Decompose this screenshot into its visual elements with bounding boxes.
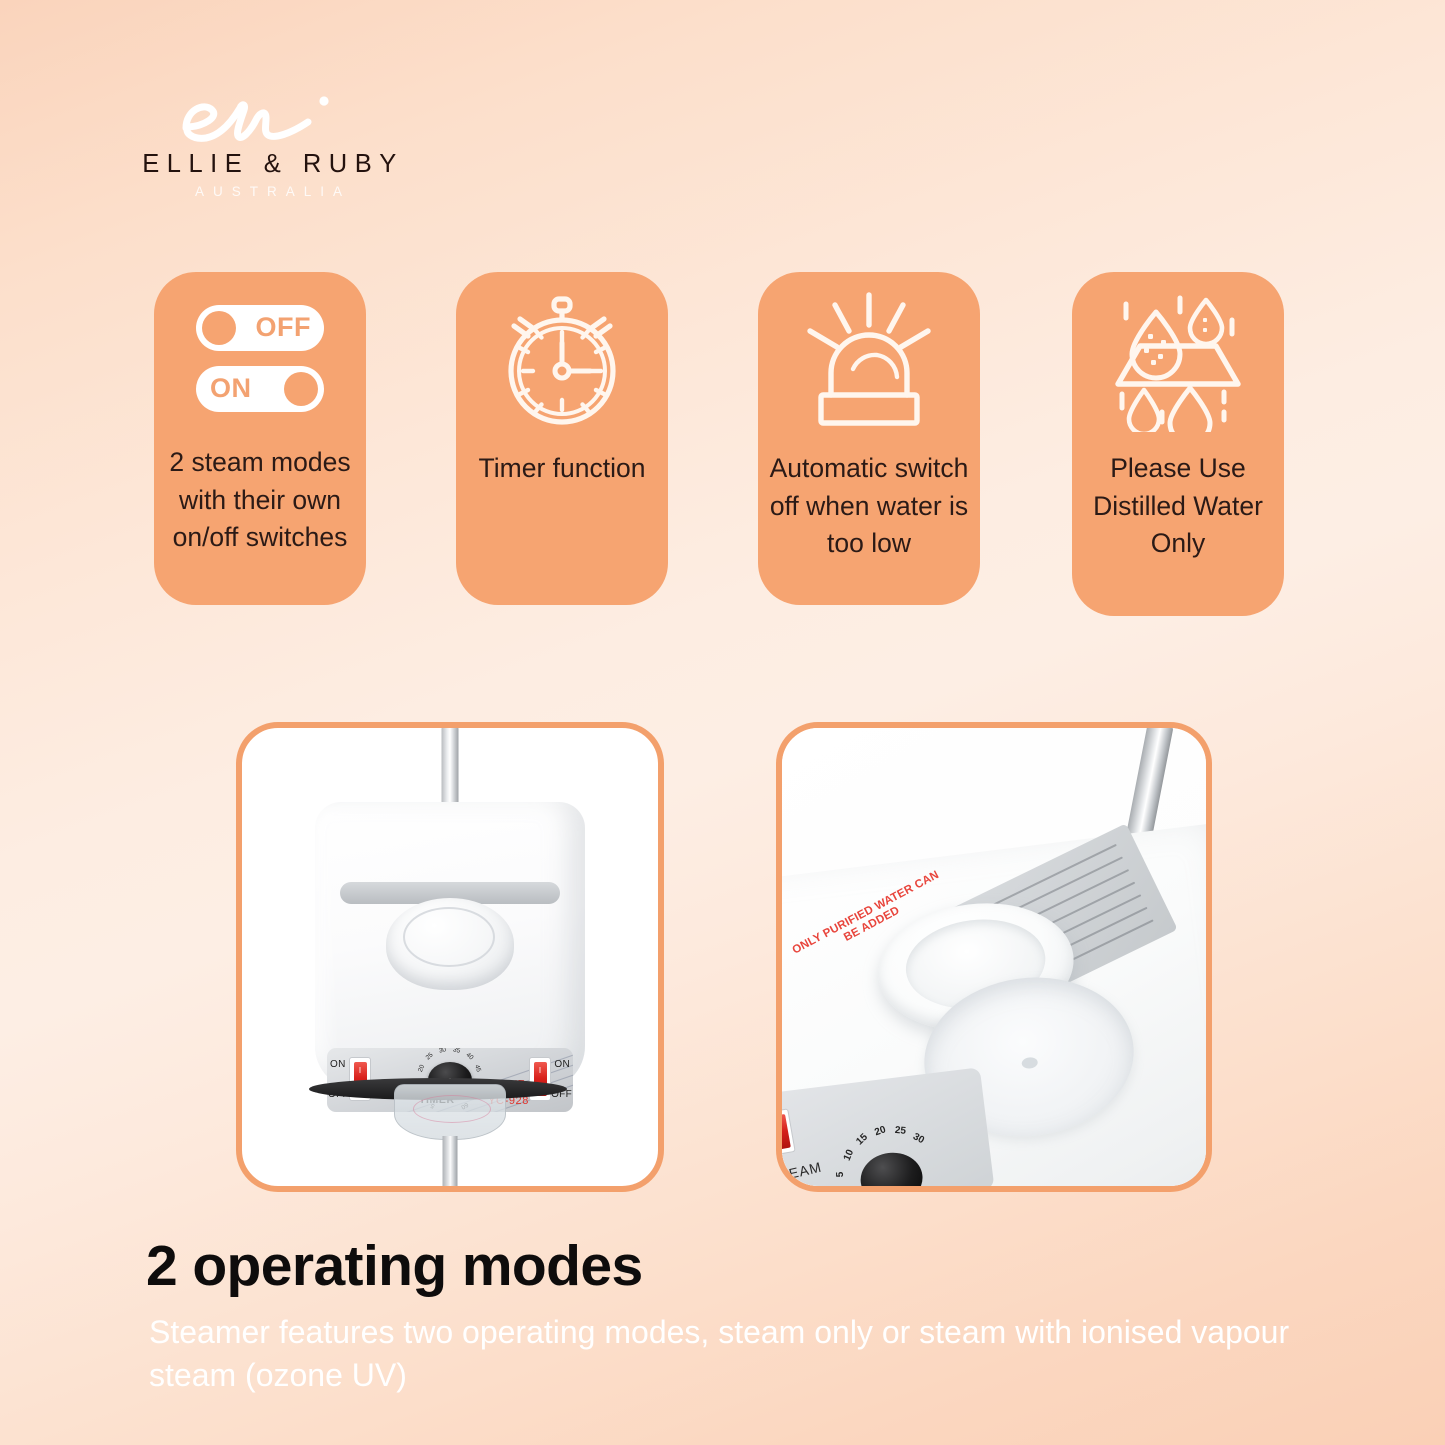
feature-card-auto-shutoff: Automatic switch off when water is too l… bbox=[758, 272, 980, 605]
distilled-water-icon bbox=[1072, 272, 1284, 450]
timer-dial-number: 25 bbox=[425, 1052, 435, 1062]
toggle-on-icon: ON bbox=[196, 366, 324, 412]
alarm-beacon-icon bbox=[758, 272, 980, 450]
page-subtitle: Steamer features two operating modes, st… bbox=[149, 1311, 1329, 1396]
timer-dial-number: 25 bbox=[894, 1125, 906, 1137]
steamer-head-body: ON OFF IO STEAM TIMER OZONE IO ON OFF 51… bbox=[315, 802, 585, 1090]
page-title: 2 operating modes bbox=[146, 1238, 643, 1295]
toggle-switches-icon: OFF ON bbox=[154, 272, 366, 444]
timer-dial-number: 40 bbox=[464, 1052, 474, 1062]
steamer-pole bbox=[442, 726, 459, 806]
feature-card-label: Please Use Distilled Water Only bbox=[1072, 450, 1284, 563]
rocker-face bbox=[776, 1114, 790, 1150]
toggle-knob bbox=[284, 372, 318, 406]
steamer-water-reservoir-photo: ONLY PURIFIED WATER CAN BE ADDED STEAM 5… bbox=[776, 722, 1212, 1192]
steam-rocker-switch[interactable] bbox=[776, 1108, 796, 1155]
steamer-water-jar bbox=[394, 1084, 506, 1140]
toggle-on-label: ON bbox=[210, 373, 252, 404]
steam-label: STEAM bbox=[776, 1159, 823, 1187]
stopwatch-icon bbox=[456, 272, 668, 450]
timer-dial-number: 30 bbox=[438, 1048, 447, 1055]
steamer-control-panel-photo: ON OFF IO STEAM TIMER OZONE IO ON OFF 51… bbox=[236, 722, 664, 1192]
timer-knob[interactable] bbox=[858, 1149, 926, 1192]
toggle-knob bbox=[202, 311, 236, 345]
toggle-off-label: OFF bbox=[256, 312, 312, 343]
ozone-on-label: ON bbox=[554, 1059, 570, 1070]
toggle-off-icon: OFF bbox=[196, 305, 324, 351]
timer-dial-number: 20 bbox=[873, 1125, 887, 1139]
timer-dial-number: 45 bbox=[473, 1064, 482, 1073]
timer-dial-number: 15 bbox=[854, 1132, 870, 1148]
feature-cards-row: OFF ON 2 steam modes with their own on/o… bbox=[0, 0, 1445, 640]
timer-dial-number: 10 bbox=[842, 1148, 856, 1163]
timer-dial-number: 5 bbox=[835, 1172, 846, 1178]
feature-card-steam-modes: OFF ON 2 steam modes with their own on/o… bbox=[154, 272, 366, 605]
steamer-glass-dome bbox=[386, 898, 514, 990]
timer-dial-number: 35 bbox=[452, 1048, 461, 1055]
feature-card-label: 2 steam modes with their own on/off swit… bbox=[154, 444, 366, 557]
feature-card-label: Automatic switch off when water is too l… bbox=[758, 450, 980, 563]
steamer-lower-stem bbox=[443, 1136, 458, 1192]
steam-on-label: ON bbox=[330, 1059, 346, 1070]
timer-dial-number: 20 bbox=[417, 1064, 426, 1073]
feature-card-distilled-water: Please Use Distilled Water Only bbox=[1072, 272, 1284, 616]
feature-card-timer: Timer function bbox=[456, 272, 668, 605]
timer-dial-number: 30 bbox=[911, 1132, 926, 1147]
feature-card-label: Timer function bbox=[473, 450, 652, 488]
